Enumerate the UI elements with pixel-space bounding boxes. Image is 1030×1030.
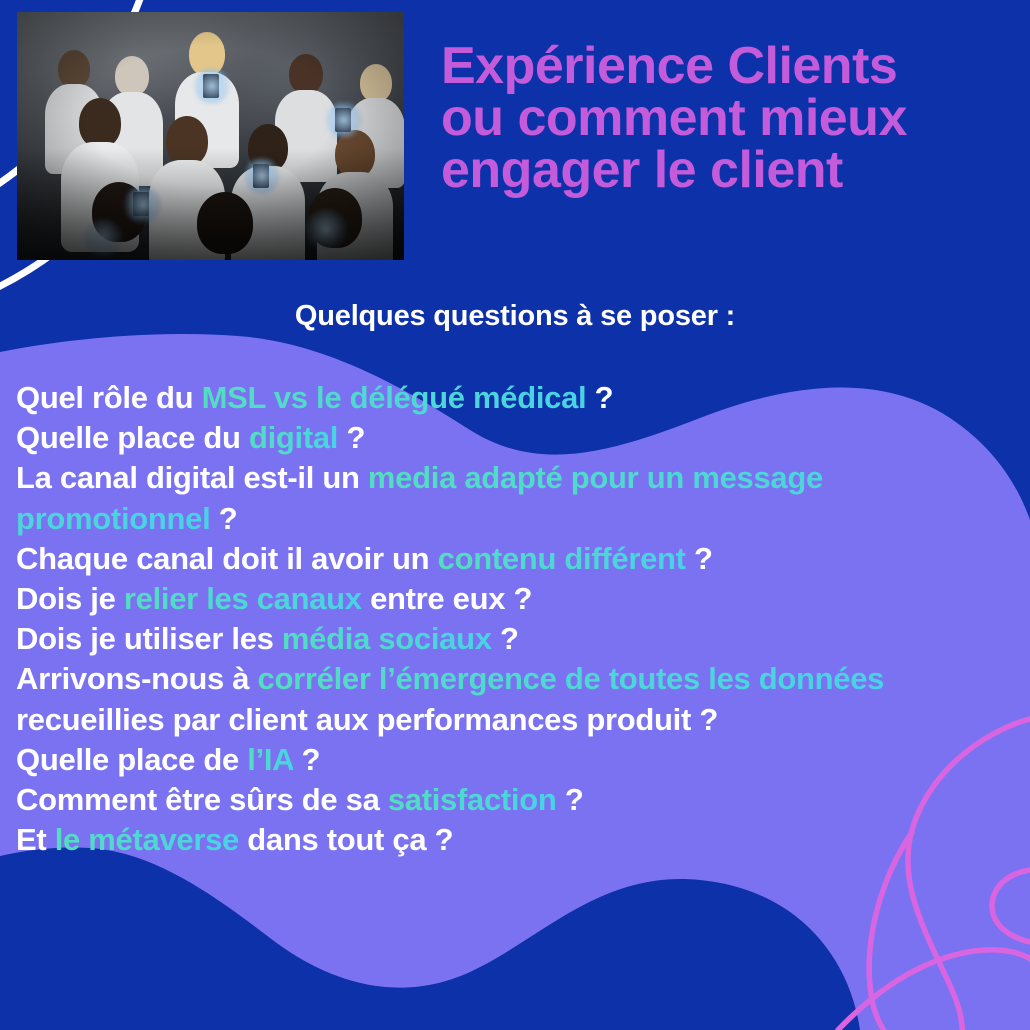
subtitle: Quelques questions à se poser :: [0, 300, 1030, 333]
question-text: ?: [293, 742, 320, 777]
question-text: Quelle place de: [16, 742, 247, 777]
question-text: Chaque canal doit il avoir un: [16, 541, 438, 576]
question-text: entre eux ?: [362, 581, 532, 616]
page-title: Expérience Clients ou comment mieux enga…: [441, 40, 1016, 196]
question-line: Et le métaverse dans tout ça ?: [16, 820, 1016, 860]
question-text: Dois je: [16, 581, 124, 616]
slide-canvas: Expérience Clients ou comment mieux enga…: [0, 0, 1030, 1030]
question-text: ?: [586, 380, 613, 415]
question-text: ?: [686, 541, 713, 576]
title-line-1: Expérience Clients: [441, 40, 1016, 92]
hero-photo: [17, 12, 404, 260]
question-text: ?: [557, 782, 584, 817]
question-text: recueillies par client aux performances …: [16, 702, 718, 737]
question-highlight: contenu différent: [438, 541, 686, 576]
question-line: Quel rôle du MSL vs le délégué médical ?: [16, 378, 1016, 418]
question-line: Quelle place du digital ?: [16, 418, 1016, 458]
questions-list: Quel rôle du MSL vs le délégué médical ?…: [16, 378, 1016, 860]
question-line: Dois je utiliser les média sociaux ?: [16, 619, 1016, 659]
question-highlight: le métaverse: [55, 822, 239, 857]
question-text: Comment être sûrs de sa: [16, 782, 388, 817]
title-line-3: engager le client: [441, 144, 1016, 196]
question-highlight: l’IA: [247, 742, 293, 777]
question-line: La canal digital est-il un media adapté …: [16, 458, 1016, 538]
question-highlight: digital: [249, 420, 338, 455]
question-line: Quelle place de l’IA ?: [16, 740, 1016, 780]
question-highlight: MSL vs le délégué médical: [202, 380, 587, 415]
question-text: Quel rôle du: [16, 380, 202, 415]
question-text: ?: [492, 621, 519, 656]
question-text: ?: [338, 420, 365, 455]
question-text: La canal digital est-il un: [16, 460, 368, 495]
question-text: Arrivons-nous à: [16, 661, 258, 696]
question-line: Dois je relier les canaux entre eux ?: [16, 579, 1016, 619]
photo-vignette: [17, 12, 404, 260]
question-line: Chaque canal doit il avoir un contenu di…: [16, 539, 1016, 579]
question-line: Comment être sûrs de sa satisfaction ?: [16, 780, 1016, 820]
title-line-2: ou comment mieux: [441, 92, 1016, 144]
question-text: Quelle place du: [16, 420, 249, 455]
question-highlight: satisfaction: [388, 782, 557, 817]
question-line: Arrivons-nous à corréler l’émergence de …: [16, 659, 1016, 739]
question-text: dans tout ça ?: [239, 822, 453, 857]
question-text: ?: [210, 501, 237, 536]
question-text: Dois je utiliser les: [16, 621, 282, 656]
question-highlight: relier les canaux: [124, 581, 362, 616]
question-text: Et: [16, 822, 55, 857]
question-highlight: média sociaux: [282, 621, 492, 656]
question-highlight: corréler l’émergence de toutes les donné…: [258, 661, 885, 696]
